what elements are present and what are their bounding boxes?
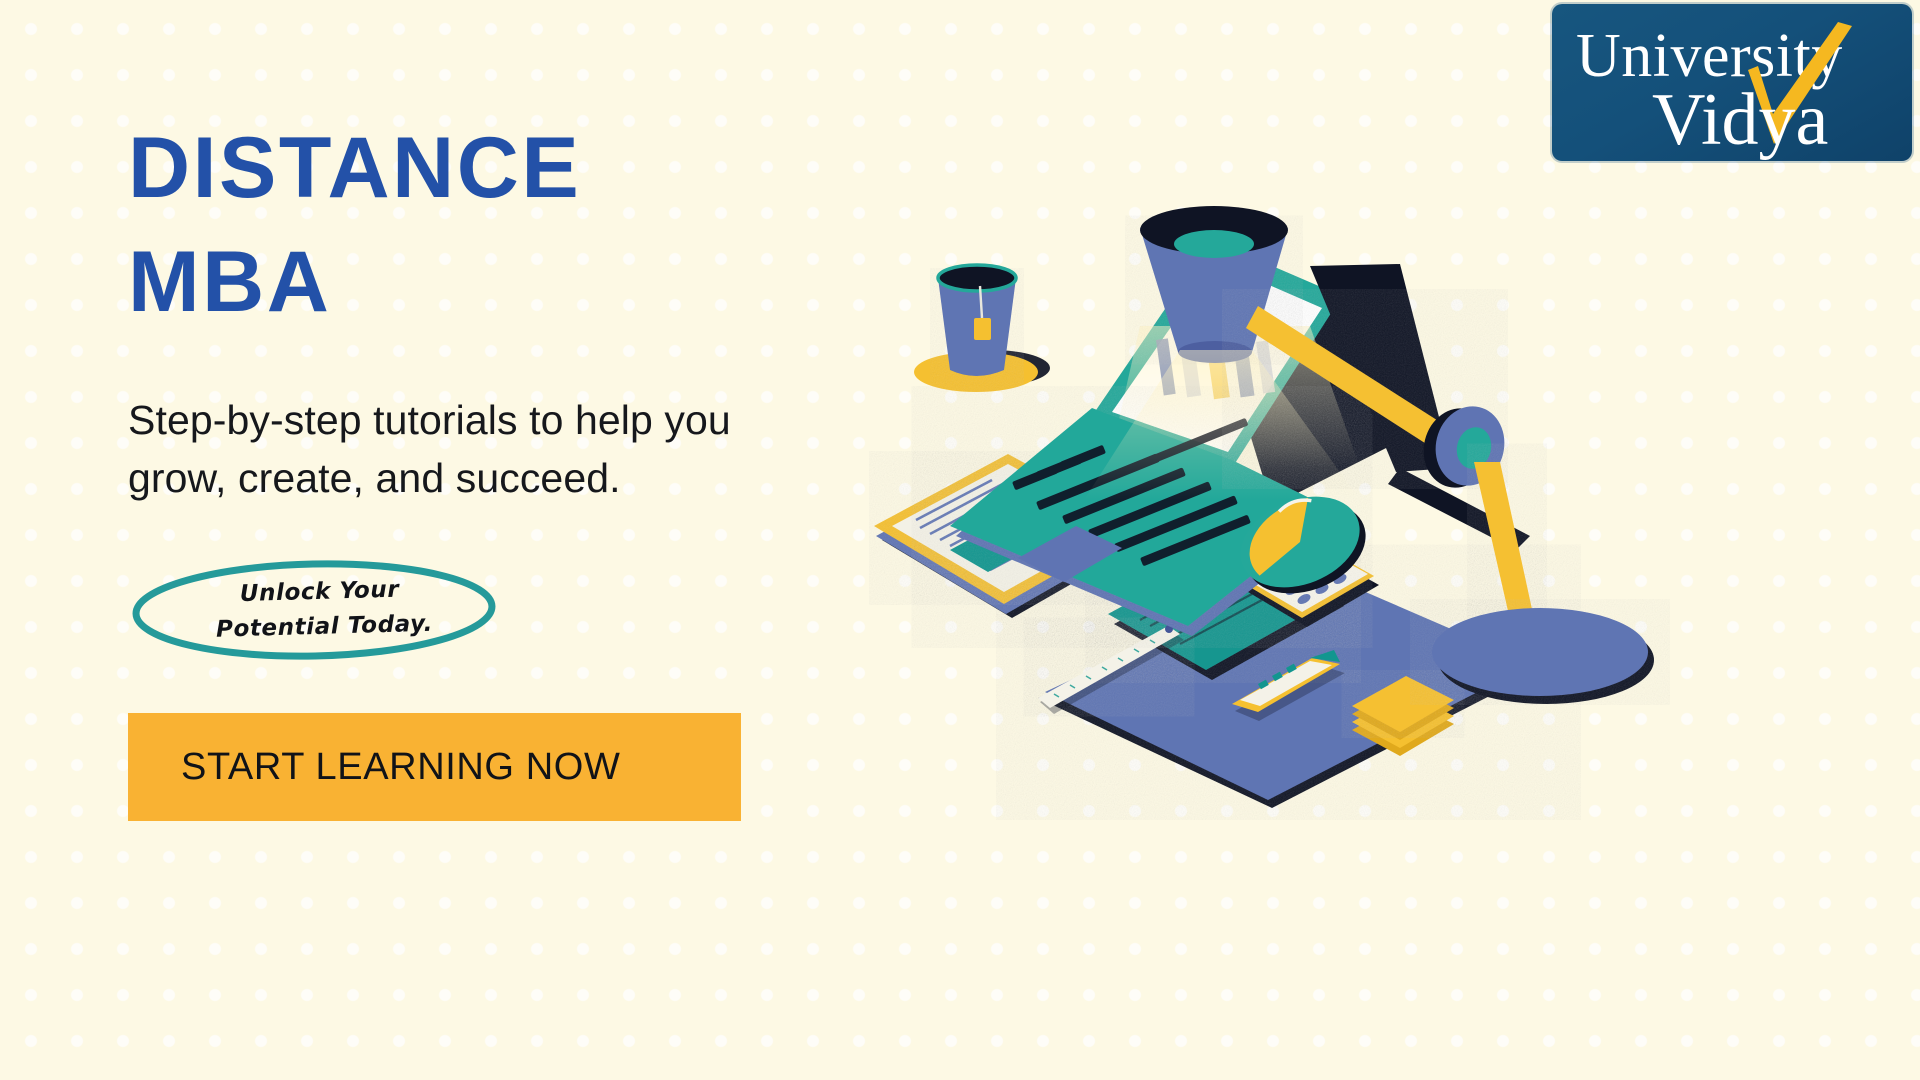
tea-cup [914, 265, 1050, 392]
badge-line-1: Unlock Your [239, 573, 399, 612]
illustration-artwork [840, 200, 1900, 820]
university-vidya-logo[interactable]: University Vidya [1552, 4, 1912, 161]
hero-subheadline: Step-by-step tutorials to help you grow,… [128, 391, 808, 507]
logo-text-vidya: Vidya [1652, 79, 1828, 161]
hero-content: DISTANCE MBA Step-by-step tutorials to h… [128, 112, 888, 821]
start-learning-now-button[interactable]: START LEARNING NOW [128, 713, 741, 821]
badge-text-block: Unlock Your Potential Today. [127, 550, 502, 670]
handwritten-badge: Unlock Your Potential Today. [128, 555, 500, 665]
badge-line-2: Potential Today. [216, 607, 434, 648]
marketing-banner: University Vidya DISTANCE MBA Step-by-st… [0, 0, 1920, 1080]
logo-artwork: University Vidya [1552, 4, 1912, 161]
page-title: DISTANCE MBA [128, 112, 748, 339]
desk-workspace-illustration [840, 200, 1900, 820]
